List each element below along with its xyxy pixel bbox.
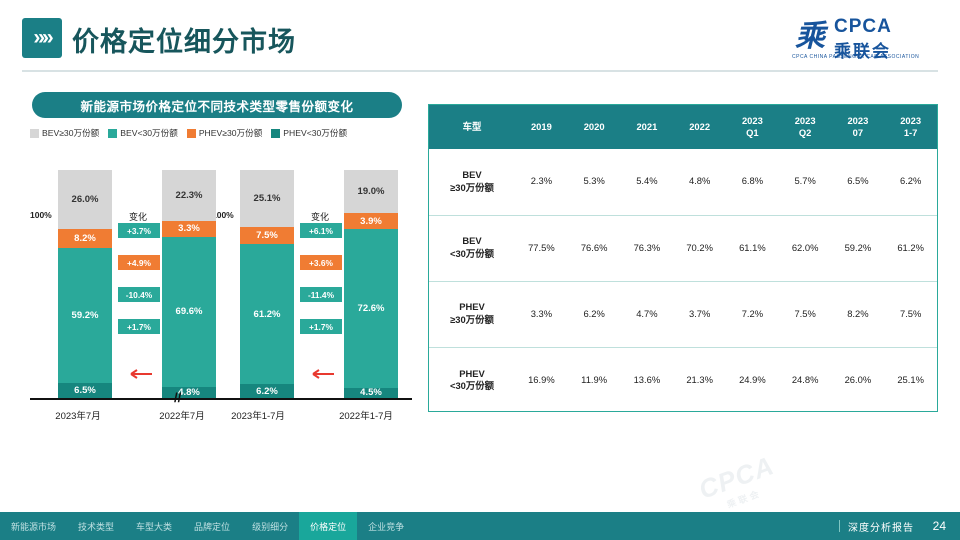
legend-label: BEV≥30万份额 xyxy=(42,127,99,139)
bar-segment-bev-lt30: 72.6% xyxy=(344,229,398,387)
table-cell: 59.2% xyxy=(832,215,885,281)
change-value-phev-ge30: +4.9% xyxy=(118,255,160,270)
bar-segment-phev-ge30: 3.9% xyxy=(344,213,398,229)
bar-2023-1-7: 25.1% 7.5% 61.2% 6.2% xyxy=(240,170,294,398)
table-col-header-2023-07: 202307 xyxy=(832,105,885,149)
legend-item: PHEV<30万份额 xyxy=(271,127,347,139)
bar-segment-phev-ge30: 7.5% xyxy=(240,227,294,244)
nav-item-new-energy-market[interactable]: 新能源市场 xyxy=(0,512,67,540)
footer-bar: 新能源市场 技术类型 车型大类 品牌定位 级别细分 价格定位 企业竞争 深度分析… xyxy=(0,512,960,540)
table-cell: 2.3% xyxy=(515,149,568,215)
table-cell: 3.7% xyxy=(673,281,726,347)
table-row-header: BEV<30万份额 xyxy=(429,215,515,281)
bar-segment-bev-lt30: 61.2% xyxy=(240,244,294,384)
table-cell: 6.8% xyxy=(726,149,779,215)
table-row-header: PHEV<30万份额 xyxy=(429,347,515,413)
table-cell: 7.2% xyxy=(726,281,779,347)
table-cell: 61.1% xyxy=(726,215,779,281)
table-cell: 21.3% xyxy=(673,347,726,413)
table-cell: 24.9% xyxy=(726,347,779,413)
table-col-header-model: 车型 xyxy=(429,105,515,149)
change-group-month: +3.7% +4.9% -10.4% +1.7% xyxy=(118,170,160,398)
table-cell: 76.3% xyxy=(621,215,674,281)
logo-cpca-text: CPCA xyxy=(834,16,892,38)
double-chevron-right-icon: »» xyxy=(22,18,62,58)
bar-2022-07: 22.3% 3.3% 69.6% 4.8% xyxy=(162,170,216,398)
data-table: 车型 2019 2020 2021 2022 2023Q1 2023Q2 202… xyxy=(429,105,937,413)
bar-2022-1-7: 19.0% 3.9% 72.6% 4.5% xyxy=(344,170,398,398)
legend-swatch xyxy=(108,129,117,138)
change-value-bev-lt30: -11.4% xyxy=(300,287,342,302)
arrow-left-icon xyxy=(305,368,335,380)
table-cell: 6.2% xyxy=(884,149,937,215)
table-cell: 7.5% xyxy=(779,281,832,347)
change-value-bev-ge30: +3.7% xyxy=(118,223,160,238)
table-cell: 5.3% xyxy=(568,149,621,215)
legend-item: BEV<30万份额 xyxy=(108,127,178,139)
table-cell: 7.5% xyxy=(884,281,937,347)
logo-subtitle: CPCA CHINA PASSENGER CAR ASSOCIATION xyxy=(792,54,919,60)
table-col-header-2020: 2020 xyxy=(568,105,621,149)
table-cell: 26.0% xyxy=(832,347,885,413)
table-cell: 62.0% xyxy=(779,215,832,281)
nav-item-enterprise-competition[interactable]: 企业竞争 xyxy=(357,512,415,540)
table-col-header-2021: 2021 xyxy=(621,105,674,149)
axis-max-label: 100% xyxy=(30,210,52,220)
nav-item-brand-position[interactable]: 品牌定位 xyxy=(183,512,241,540)
table-col-header-2022: 2022 xyxy=(673,105,726,149)
table-col-header-2023q2: 2023Q2 xyxy=(779,105,832,149)
table-cell: 70.2% xyxy=(673,215,726,281)
legend-item: BEV≥30万份额 xyxy=(30,127,99,139)
table-col-header-2019: 2019 xyxy=(515,105,568,149)
bar-segment-phev-lt30: 6.2% xyxy=(240,384,294,398)
change-group-cumulative: +6.1% +3.6% -11.4% +1.7% xyxy=(300,170,342,398)
bar-segment-bev-ge30: 26.0% xyxy=(58,170,112,229)
table-cell: 5.4% xyxy=(621,149,674,215)
change-value-bev-lt30: -10.4% xyxy=(118,287,160,302)
chart-plot-area: 100% 100% 当月 变化 同期 累计 变化 同期 26.0% 8.2% 5… xyxy=(30,148,412,398)
table-row: BEV<30万份额 77.5% 76.6% 76.3% 70.2% 61.1% … xyxy=(429,215,937,281)
legend-swatch xyxy=(187,129,196,138)
table-cell: 8.2% xyxy=(832,281,885,347)
axis-break-mark: // xyxy=(174,390,181,405)
change-value-phev-lt30: +1.7% xyxy=(118,319,160,334)
page-header: »» 价格定位细分市场 乘 CPCA 乘联会 CPCA CHINA PASSEN… xyxy=(0,0,960,74)
table-cell: 4.7% xyxy=(621,281,674,347)
bar-segment-bev-ge30: 19.0% xyxy=(344,170,398,213)
table-row: PHEV<30万份额 16.9% 11.9% 13.6% 21.3% 24.9%… xyxy=(429,347,937,413)
bar-segment-phev-lt30: 4.8% xyxy=(162,387,216,398)
table-cell: 61.2% xyxy=(884,215,937,281)
table-cell: 16.9% xyxy=(515,347,568,413)
x-axis-label: 2023年1-7月 xyxy=(204,408,312,422)
legend-swatch xyxy=(271,129,280,138)
table-col-header-2023-1-7: 20231-7 xyxy=(884,105,937,149)
table-row-header: BEV≥30万份额 xyxy=(429,149,515,215)
legend-label: BEV<30万份额 xyxy=(120,127,178,139)
table-cell: 6.5% xyxy=(832,149,885,215)
table-cell: 76.6% xyxy=(568,215,621,281)
table-cell: 5.7% xyxy=(779,149,832,215)
legend-label: PHEV≥30万份额 xyxy=(199,127,262,139)
x-axis-label: 2022年1-7月 xyxy=(312,408,420,422)
bar-segment-bev-lt30: 59.2% xyxy=(58,248,112,383)
table-row-header: PHEV≥30万份额 xyxy=(429,281,515,347)
chart-title: 新能源市场价格定位不同技术类型零售份额变化 xyxy=(32,92,402,118)
change-value-bev-ge30: +6.1% xyxy=(300,223,342,238)
change-value-phev-lt30: +1.7% xyxy=(300,319,342,334)
bar-segment-bev-ge30: 22.3% xyxy=(162,170,216,221)
table-row: PHEV≥30万份额 3.3% 6.2% 4.7% 3.7% 7.2% 7.5%… xyxy=(429,281,937,347)
footer-report-label: 深度分析报告 xyxy=(848,512,914,540)
table-cell: 3.3% xyxy=(515,281,568,347)
nav-item-class-segment[interactable]: 级别细分 xyxy=(241,512,299,540)
header-divider xyxy=(22,70,938,72)
table-cell: 11.9% xyxy=(568,347,621,413)
bar-segment-phev-lt30: 4.5% xyxy=(344,388,398,398)
table-cell: 77.5% xyxy=(515,215,568,281)
logo-mark-icon: 乘 xyxy=(792,18,828,56)
legend-swatch xyxy=(30,129,39,138)
legend-item: PHEV≥30万份额 xyxy=(187,127,262,139)
table-row: BEV≥30万份额 2.3% 5.3% 5.4% 4.8% 6.8% 5.7% … xyxy=(429,149,937,215)
bar-2023-07: 26.0% 8.2% 59.2% 6.5% xyxy=(58,170,112,398)
table-header-row: 车型 2019 2020 2021 2022 2023Q1 2023Q2 202… xyxy=(429,105,937,149)
nav-item-vehicle-category[interactable]: 车型大类 xyxy=(125,512,183,540)
bar-segment-phev-lt30: 6.5% xyxy=(58,383,112,398)
bar-segment-phev-ge30: 3.3% xyxy=(162,221,216,237)
page-title: 价格定位细分市场 xyxy=(72,20,296,59)
watermark: CPCA乘联会 xyxy=(695,450,783,518)
bar-segment-bev-lt30: 69.6% xyxy=(162,237,216,387)
cpca-logo: 乘 CPCA 乘联会 CPCA CHINA PASSENGER CAR ASSO… xyxy=(792,14,942,60)
chart-panel: 新能源市场价格定位不同技术类型零售份额变化 BEV≥30万份额 BEV<30万份… xyxy=(22,92,412,452)
bar-segment-bev-ge30: 25.1% xyxy=(240,170,294,227)
page-number: 24 xyxy=(933,512,946,540)
table-cell: 25.1% xyxy=(884,347,937,413)
data-table-panel: 车型 2019 2020 2021 2022 2023Q1 2023Q2 202… xyxy=(428,104,938,412)
arrow-left-icon xyxy=(123,368,153,380)
legend-label: PHEV<30万份额 xyxy=(283,127,347,139)
table-cell: 13.6% xyxy=(621,347,674,413)
table-col-header-2023q1: 2023Q1 xyxy=(726,105,779,149)
footer-divider xyxy=(839,520,840,532)
change-value-phev-ge30: +3.6% xyxy=(300,255,342,270)
x-axis-label: 2023年7月 xyxy=(30,408,126,422)
table-cell: 6.2% xyxy=(568,281,621,347)
nav-item-technology-type[interactable]: 技术类型 xyxy=(67,512,125,540)
footer-nav: 新能源市场 技术类型 车型大类 品牌定位 级别细分 价格定位 企业竞争 xyxy=(0,512,415,540)
chart-legend: BEV≥30万份额 BEV<30万份额 PHEV≥30万份额 PHEV<30万份… xyxy=(30,124,412,142)
bar-segment-phev-ge30: 8.2% xyxy=(58,229,112,248)
nav-item-price-position[interactable]: 价格定位 xyxy=(299,512,357,540)
chart-baseline xyxy=(30,398,412,400)
table-cell: 24.8% xyxy=(779,347,832,413)
table-cell: 4.8% xyxy=(673,149,726,215)
